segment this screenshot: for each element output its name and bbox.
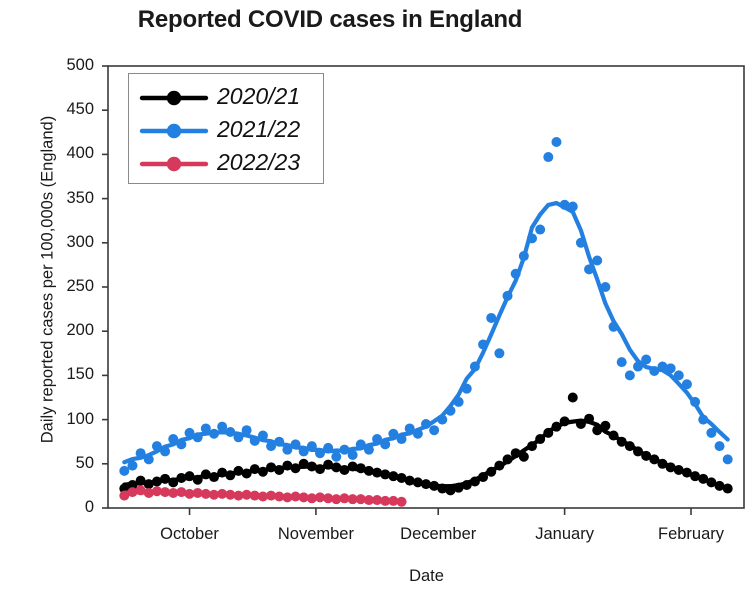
legend-entry-2022-23[interactable]: 2022/23 (129, 148, 325, 181)
series-2021-22 (119, 137, 732, 476)
x-tick-label: February (621, 526, 754, 543)
y-tick-label: 0 (34, 499, 94, 516)
series-2020-21 (119, 393, 732, 496)
y-tick-label: 450 (34, 101, 94, 118)
data-series-layer (119, 137, 732, 507)
y-tick-label: 500 (34, 57, 94, 74)
x-tick-marks (190, 508, 691, 515)
legend-label: 2021/22 (217, 116, 300, 143)
legend-entry-2020-21[interactable]: 2020/21 (129, 82, 325, 115)
y-tick-label: 150 (34, 366, 94, 383)
x-tick-label: November (246, 526, 386, 543)
y-tick-label: 50 (34, 455, 94, 472)
y-tick-label: 200 (34, 322, 94, 339)
y-tick-label: 300 (34, 234, 94, 251)
y-tick-label: 100 (34, 411, 94, 428)
legend: 2020/212021/222022/23 (128, 73, 324, 184)
legend-swatch-line-marker-icon (138, 84, 212, 112)
legend-swatch-line-marker-icon (138, 150, 212, 178)
y-tick-label: 350 (34, 190, 94, 207)
y-tick-label: 400 (34, 145, 94, 162)
x-tick-label: December (368, 526, 508, 543)
x-tick-label: January (495, 526, 635, 543)
legend-swatch-line-marker-icon (138, 117, 212, 145)
series-2022-23 (119, 485, 406, 506)
plot-area (0, 0, 754, 608)
y-tick-marks (102, 66, 108, 508)
y-tick-label: 250 (34, 278, 94, 295)
legend-entry-2021-22[interactable]: 2021/22 (129, 115, 325, 148)
x-tick-label: October (120, 526, 260, 543)
legend-label: 2020/21 (217, 83, 300, 110)
chart-figure: Reported COVID cases in England Daily re… (0, 0, 754, 608)
legend-label: 2022/23 (217, 149, 300, 176)
